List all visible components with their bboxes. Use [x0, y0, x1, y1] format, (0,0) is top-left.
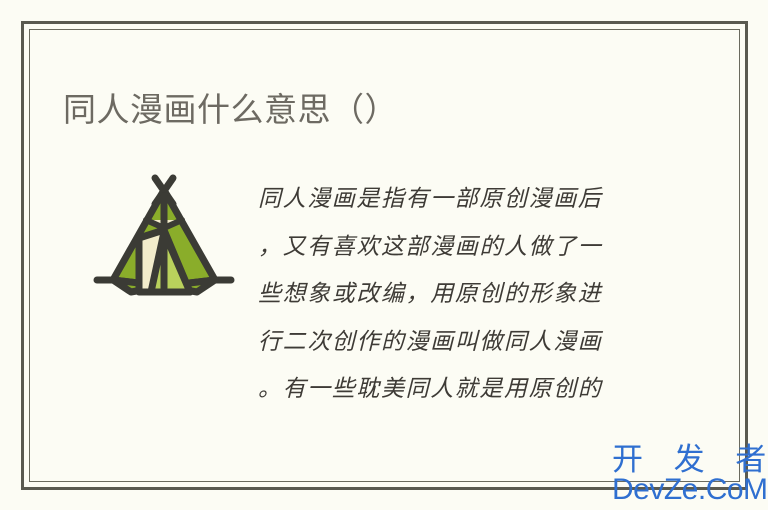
article-body-line: 些想象或改编，用原创的形象进 [258, 271, 678, 319]
article-body-line: 。有一些耽美同人就是用原创的 [258, 366, 678, 414]
article-card-inner-border: 同人漫画什么意思（） [29, 29, 740, 482]
article-body-line: 行二次创作的漫画叫做同人漫画 [258, 319, 678, 367]
article-body: 同人漫画是指有一部原创漫画后 ，又有喜欢这部漫画的人做了一 些想象或改编，用原创… [258, 176, 678, 414]
article-body-line: ，又有喜欢这部漫画的人做了一 [258, 224, 678, 272]
article-card: 同人漫画什么意思（） [21, 21, 748, 490]
page-title: 同人漫画什么意思（） [63, 90, 398, 130]
tent-icon [91, 170, 237, 296]
article-body-line: 同人漫画是指有一部原创漫画后 [258, 176, 678, 224]
